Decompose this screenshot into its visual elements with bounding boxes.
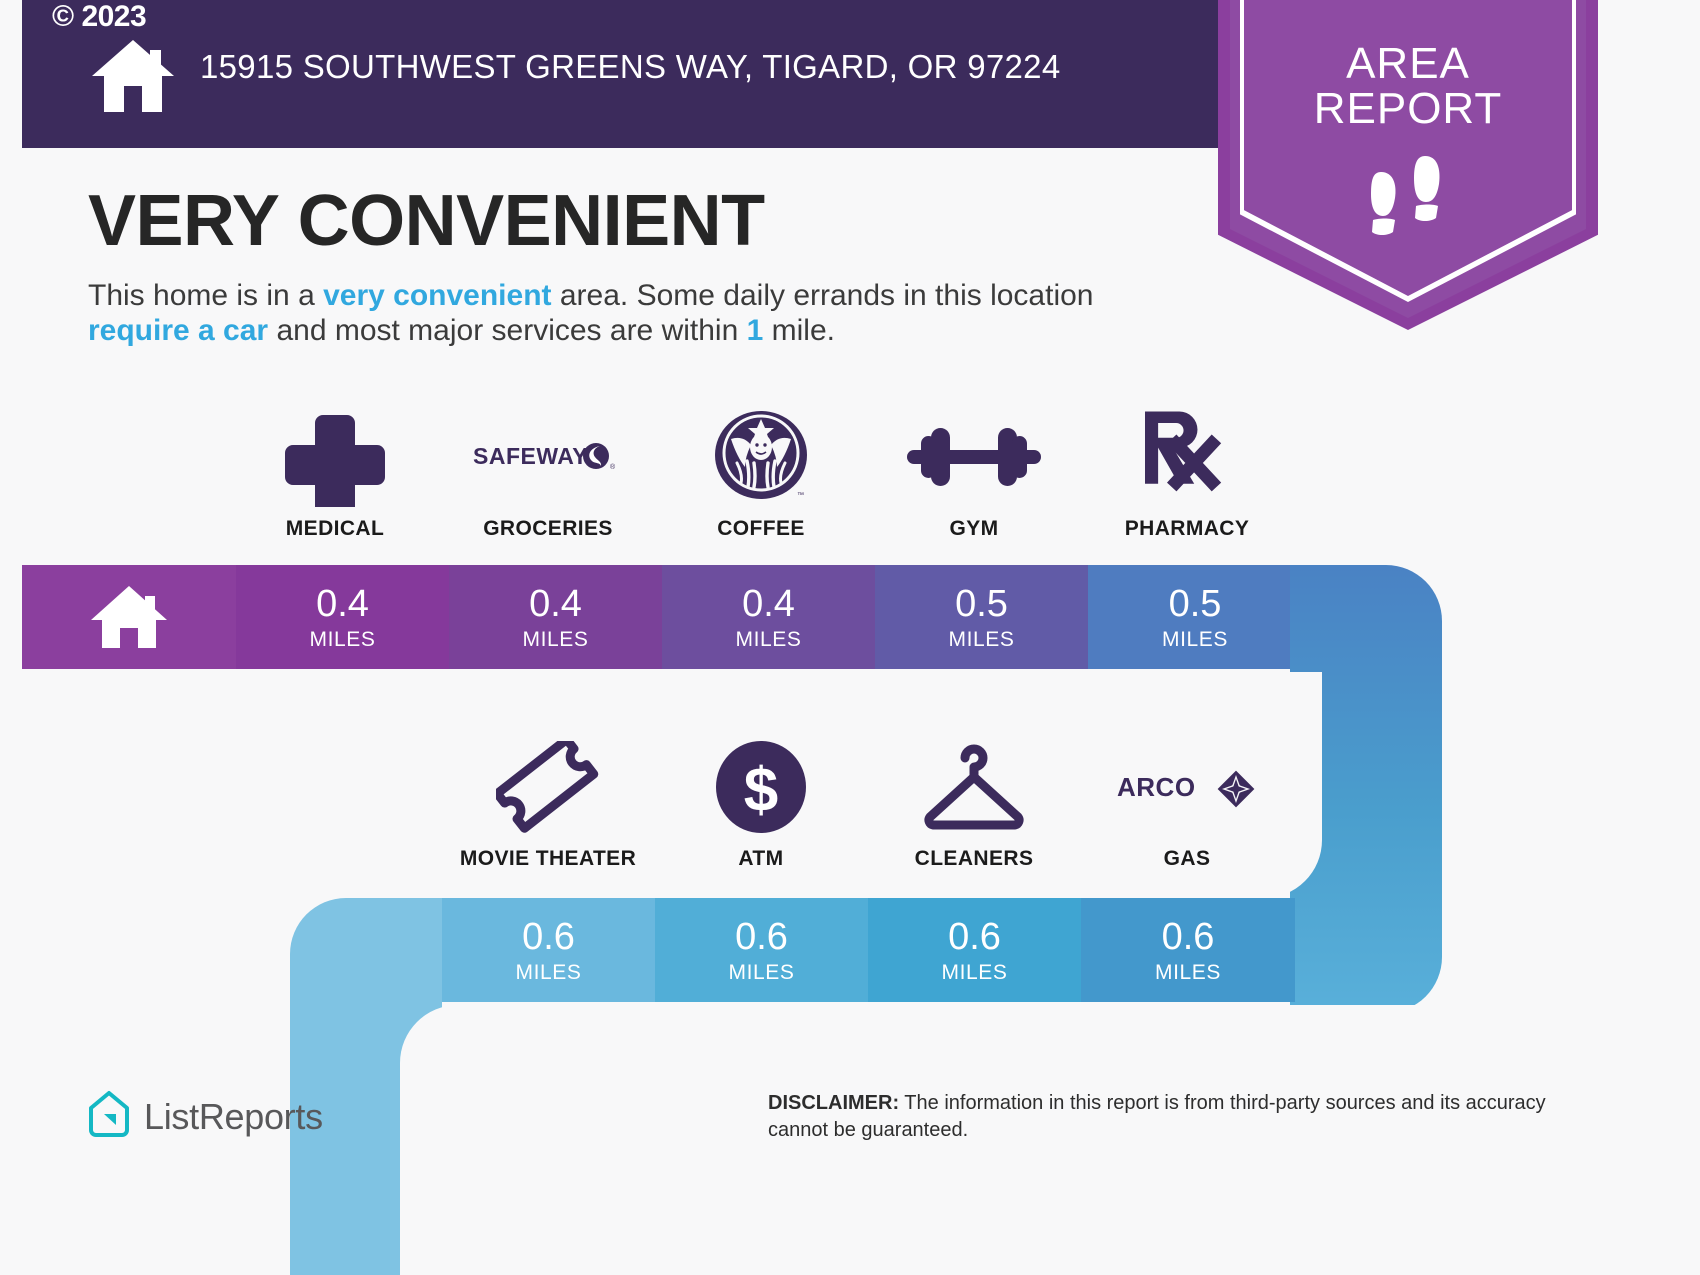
amenity-label: ATM (654, 847, 868, 871)
disclaimer-label: DISCLAIMER: (768, 1092, 899, 1114)
summary-part-3: and most major services are within (268, 314, 747, 347)
distance-unit: MILES (948, 629, 1014, 650)
amenity-label: GYM (867, 517, 1081, 541)
distance-unit: MILES (1155, 962, 1221, 983)
arco-logo-icon: ARCO (1080, 735, 1294, 839)
copyright-label: © 2023 (52, 2, 146, 32)
distance-unit: MILES (1162, 629, 1228, 650)
distance-segment-gas: 0.6 MILES (1081, 898, 1295, 1002)
amenity-groceries: SAFEWAY ® GROCERIES (441, 405, 655, 541)
pennant-line-2: REPORT (1218, 87, 1598, 132)
amenity-medical: MEDICAL (228, 405, 442, 541)
pennant-title: AREA REPORT (1218, 42, 1598, 132)
footprints-icon (1218, 150, 1598, 247)
distance-unit: MILES (941, 962, 1007, 983)
summary-part-2: area. Some daily errands in this locatio… (552, 279, 1094, 312)
summary-part-1: This home is in a (88, 279, 323, 312)
svg-text:™: ™ (797, 492, 804, 499)
area-report-page: © 2023 15915 SOUTHWEST GREENS WAY, TIGAR… (0, 0, 1700, 1275)
distance-value: 0.6 (948, 918, 1001, 956)
amenity-gym: GYM (867, 405, 1081, 541)
distance-value: 0.4 (529, 585, 582, 623)
distance-segment-atm: 0.6 MILES (655, 898, 868, 1002)
svg-text:$: $ (744, 756, 778, 825)
distance-unit: MILES (515, 962, 581, 983)
distance-value: 0.5 (1169, 585, 1222, 623)
distance-unit: MILES (728, 962, 794, 983)
distance-value: 0.4 (742, 585, 795, 623)
home-icon (90, 36, 176, 114)
distance-segment-groceries: 0.4 MILES (449, 565, 662, 669)
amenity-label: GAS (1080, 847, 1294, 871)
distance-bar-row-2: 0.6 MILES 0.6 MILES 0.6 MILES 0.6 MILES (290, 898, 1442, 1008)
distance-segment-movie-theater: 0.6 MILES (442, 898, 655, 1002)
distance-segment-cleaners: 0.6 MILES (868, 898, 1081, 1002)
amenity-cleaners: CLEANERS (867, 735, 1081, 871)
distance-value: 0.5 (955, 585, 1008, 623)
starbucks-logo-icon: ™ (654, 405, 868, 509)
svg-text:SAFEWAY: SAFEWAY (473, 443, 588, 469)
summary-text: This home is in a very convenient area. … (88, 278, 1098, 349)
amenity-atm: $ ATM (654, 735, 868, 871)
amenity-pharmacy: PHARMACY (1080, 405, 1294, 541)
amenity-label: MEDICAL (228, 517, 442, 541)
listreports-brand: ListReports (88, 1090, 323, 1143)
amenity-label: MOVIE THEATER (441, 847, 655, 871)
amenity-coffee: ™ COFFEE (654, 405, 868, 541)
summary-highlight-2: require a car (88, 314, 268, 347)
distance-value: 0.6 (522, 918, 575, 956)
page-title: VERY CONVENIENT (88, 185, 765, 257)
distance-unit: MILES (522, 629, 588, 650)
svg-text:®: ® (610, 463, 616, 471)
distance-bar-row-1: 0.4 MILES 0.4 MILES 0.4 MILES 0.5 MILES … (22, 565, 1444, 675)
home-marker-segment (22, 565, 236, 669)
hanger-icon (867, 735, 1081, 839)
distance-segment-pharmacy: 0.5 MILES (1088, 565, 1302, 669)
distance-value: 0.6 (735, 918, 788, 956)
dumbbell-icon (867, 405, 1081, 509)
brand-name: ListReports (144, 1096, 323, 1138)
disclaimer: DISCLAIMER: The information in this repo… (768, 1090, 1608, 1144)
home-icon (89, 584, 169, 650)
distance-value: 0.4 (316, 585, 369, 623)
distance-segment-gym: 0.5 MILES (875, 565, 1088, 669)
distance-segment-medical: 0.4 MILES (236, 565, 449, 669)
distance-segment-coffee: 0.4 MILES (662, 565, 875, 669)
medical-cross-icon (228, 405, 442, 509)
rx-icon (1080, 405, 1294, 509)
summary-highlight-3: 1 (747, 314, 764, 347)
dollar-icon: $ (654, 735, 868, 839)
distance-unit: MILES (309, 629, 375, 650)
amenity-gas: ARCO GAS (1080, 735, 1294, 871)
amenity-movie-theater: MOVIE THEATER (441, 735, 655, 871)
amenity-label: GROCERIES (441, 517, 655, 541)
safeway-logo-icon: SAFEWAY ® (441, 405, 655, 509)
summary-part-4: mile. (763, 314, 835, 347)
ticket-icon (441, 735, 655, 839)
svg-text:ARCO: ARCO (1117, 772, 1196, 802)
distance-unit: MILES (735, 629, 801, 650)
amenity-label: COFFEE (654, 517, 868, 541)
pennant-line-1: AREA (1218, 42, 1598, 87)
summary-highlight-1: very convenient (323, 279, 551, 312)
distance-value: 0.6 (1162, 918, 1215, 956)
amenity-label: CLEANERS (867, 847, 1081, 871)
property-address: 15915 SOUTHWEST GREENS WAY, TIGARD, OR 9… (200, 48, 1060, 86)
listreports-logo-icon (88, 1090, 130, 1143)
amenity-label: PHARMACY (1080, 517, 1294, 541)
